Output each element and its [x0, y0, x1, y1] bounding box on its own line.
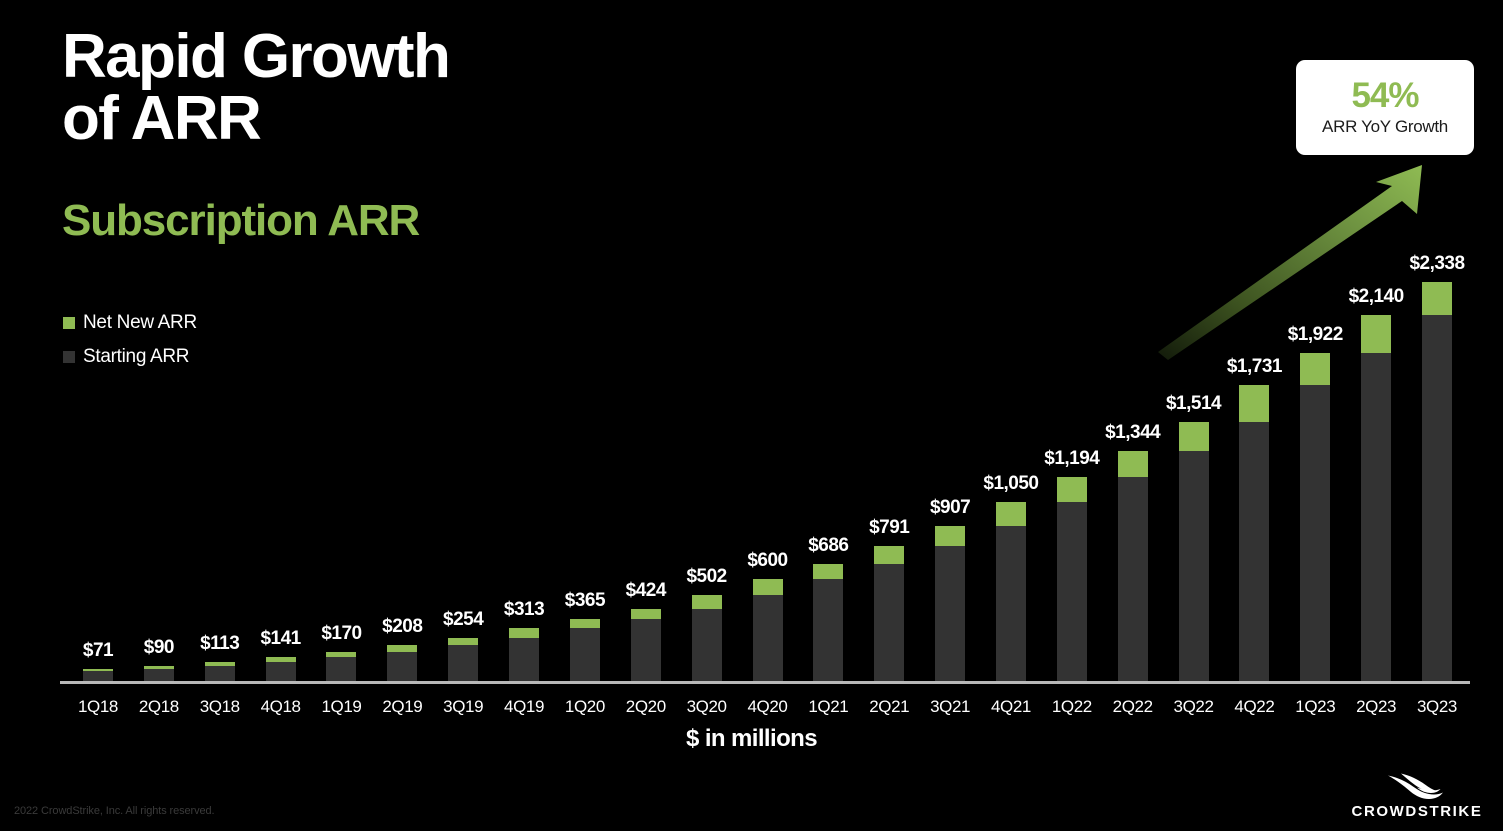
bar-value-label-2Q22: $1,344	[1105, 422, 1160, 444]
x-axis-label-1Q21: 1Q21	[808, 697, 848, 717]
bar-4Q18	[266, 657, 296, 681]
x-axis-label-4Q19: 4Q19	[504, 697, 544, 717]
x-axis-label-4Q20: 4Q20	[748, 697, 788, 717]
bar-segment-net-new	[326, 652, 356, 657]
bar-4Q22	[1239, 385, 1269, 681]
page-title: Rapid Growth of ARR	[62, 26, 449, 150]
bar-value-label-1Q21: $686	[808, 535, 848, 557]
x-axis-label-3Q23: 3Q23	[1417, 697, 1457, 717]
title-line-1: Rapid Growth	[62, 26, 449, 88]
bar-value-label-3Q20: $502	[686, 566, 726, 588]
x-axis-label-2Q21: 2Q21	[869, 697, 909, 717]
bar-segment-net-new	[874, 546, 904, 564]
bar-value-label-4Q19: $313	[504, 599, 544, 621]
bar-segment-net-new	[144, 666, 174, 669]
bar-segment-net-new	[692, 595, 722, 608]
bar-segment-starting	[1422, 315, 1452, 681]
x-axis-label-2Q18: 2Q18	[139, 697, 179, 717]
page-subtitle: Subscription ARR	[62, 196, 419, 246]
x-axis-label-1Q19: 1Q19	[321, 697, 361, 717]
bar-segment-net-new	[448, 638, 478, 646]
bar-segment-net-new	[570, 619, 600, 628]
bar-1Q21	[813, 564, 843, 681]
bar-segment-net-new	[83, 669, 113, 672]
bar-segment-net-new	[205, 662, 235, 666]
bar-segment-starting	[1118, 477, 1148, 681]
bar-segment-net-new	[1057, 477, 1087, 502]
bar-segment-net-new	[1239, 385, 1269, 422]
bar-segment-starting	[692, 609, 722, 681]
x-axis-label-2Q19: 2Q19	[382, 697, 422, 717]
bar-segment-net-new	[813, 564, 843, 579]
bar-3Q22	[1179, 422, 1209, 681]
bar-segment-net-new	[1179, 422, 1209, 451]
bar-segment-starting	[570, 628, 600, 681]
bar-value-label-4Q21: $1,050	[983, 473, 1038, 495]
bar-segment-net-new	[631, 609, 661, 619]
bar-3Q20	[692, 595, 722, 681]
yoy-growth-value: 54%	[1351, 78, 1418, 115]
bar-segment-starting	[205, 666, 235, 681]
bar-4Q20	[753, 579, 783, 682]
yoy-growth-label: ARR YoY Growth	[1322, 117, 1448, 137]
bar-segment-starting	[1300, 385, 1330, 681]
legend-swatch-icon-starting	[63, 351, 75, 363]
x-axis-label-1Q23: 1Q23	[1295, 697, 1335, 717]
bar-segment-net-new	[266, 657, 296, 662]
bar-segment-starting	[874, 564, 904, 681]
yoy-growth-callout: 54% ARR YoY Growth	[1296, 60, 1474, 155]
bar-segment-starting	[935, 546, 965, 681]
bar-value-label-1Q18: $71	[83, 640, 113, 662]
x-axis-label-1Q22: 1Q22	[1052, 697, 1092, 717]
x-axis-title: $ in millions	[0, 725, 1503, 753]
bar-1Q23	[1300, 353, 1330, 681]
logo-wordmark: CROWDSTRIKE	[1352, 803, 1483, 820]
bar-2Q21	[874, 546, 904, 681]
bar-segment-starting	[1057, 502, 1087, 681]
bar-value-label-3Q22: $1,514	[1166, 393, 1221, 415]
bar-segment-starting	[266, 662, 296, 681]
title-line-2: of ARR	[62, 88, 449, 150]
bar-value-label-4Q18: $141	[260, 628, 300, 650]
bar-segment-net-new	[387, 645, 417, 651]
bar-value-label-3Q21: $907	[930, 497, 970, 519]
bar-segment-starting	[1239, 422, 1269, 681]
crowdstrike-logo: CROWDSTRIKE	[1357, 772, 1477, 820]
bar-3Q18	[205, 662, 235, 681]
bar-1Q20	[570, 619, 600, 681]
x-axis-label-3Q19: 3Q19	[443, 697, 483, 717]
x-axis-label-1Q18: 1Q18	[78, 697, 118, 717]
bar-2Q23	[1361, 315, 1391, 681]
bar-value-label-3Q18: $113	[200, 633, 239, 655]
legend-item-starting: Starting ARR	[63, 340, 197, 374]
legend-swatch-icon-net-new	[63, 317, 75, 329]
bar-3Q21	[935, 526, 965, 681]
bar-segment-starting	[144, 669, 174, 681]
bar-segment-starting	[326, 657, 356, 681]
bar-2Q18	[144, 666, 174, 681]
bar-value-label-2Q20: $424	[626, 580, 666, 602]
bar-segment-starting	[448, 645, 478, 681]
legend-label-net-new: Net New ARR	[83, 312, 197, 334]
bar-segment-net-new	[753, 579, 783, 596]
bar-4Q19	[509, 628, 539, 681]
bar-segment-starting	[509, 638, 539, 681]
legend-label-starting: Starting ARR	[83, 346, 189, 368]
bar-segment-net-new	[509, 628, 539, 638]
x-axis-label-3Q22: 3Q22	[1174, 697, 1214, 717]
bar-value-label-2Q18: $90	[144, 637, 174, 659]
bar-3Q19	[448, 638, 478, 681]
x-axis-label-4Q22: 4Q22	[1234, 697, 1274, 717]
growth-arrow-icon	[1140, 160, 1440, 360]
bar-segment-starting	[753, 595, 783, 681]
bar-value-label-2Q19: $208	[382, 616, 422, 638]
bar-segment-net-new	[1118, 451, 1148, 477]
bar-1Q22	[1057, 477, 1087, 681]
bar-value-label-2Q21: $791	[869, 517, 909, 539]
bar-segment-starting	[996, 526, 1026, 681]
bar-4Q21	[996, 502, 1026, 681]
x-axis-label-3Q21: 3Q21	[930, 697, 970, 717]
bar-value-label-3Q19: $254	[443, 609, 483, 631]
bar-segment-starting	[631, 619, 661, 681]
bar-segment-net-new	[996, 502, 1026, 526]
bar-value-label-1Q22: $1,194	[1044, 448, 1099, 470]
chart-legend: Net New ARR Starting ARR	[63, 306, 197, 374]
falcon-icon	[1387, 772, 1447, 802]
x-axis-label-2Q23: 2Q23	[1356, 697, 1396, 717]
x-axis-line	[60, 681, 1470, 684]
x-axis-label-4Q18: 4Q18	[261, 697, 301, 717]
bar-value-label-4Q20: $600	[747, 550, 787, 572]
x-axis-label-2Q20: 2Q20	[626, 697, 666, 717]
bar-segment-net-new	[935, 526, 965, 546]
slide-root: Rapid Growth of ARR Subscription ARR Net…	[0, 0, 1503, 831]
bar-2Q22	[1118, 451, 1148, 681]
x-axis-label-3Q18: 3Q18	[200, 697, 240, 717]
bar-value-label-1Q19: $170	[321, 623, 361, 645]
x-axis-label-3Q20: 3Q20	[687, 697, 727, 717]
bar-segment-starting	[387, 652, 417, 681]
bar-1Q19	[326, 652, 356, 681]
footer-copyright: 2022 CrowdStrike, Inc. All rights reserv…	[14, 805, 215, 817]
bar-1Q18	[83, 669, 113, 681]
bar-2Q19	[387, 645, 417, 681]
bar-segment-starting	[813, 579, 843, 682]
x-axis-label-1Q20: 1Q20	[565, 697, 605, 717]
x-axis-label-4Q21: 4Q21	[991, 697, 1031, 717]
bar-2Q20	[631, 609, 661, 681]
bar-segment-starting	[83, 671, 113, 681]
x-axis-label-2Q22: 2Q22	[1113, 697, 1153, 717]
bar-segment-starting	[1361, 353, 1391, 681]
bar-value-label-1Q20: $365	[565, 590, 605, 612]
bar-segment-starting	[1179, 451, 1209, 681]
legend-item-net-new: Net New ARR	[63, 306, 197, 340]
